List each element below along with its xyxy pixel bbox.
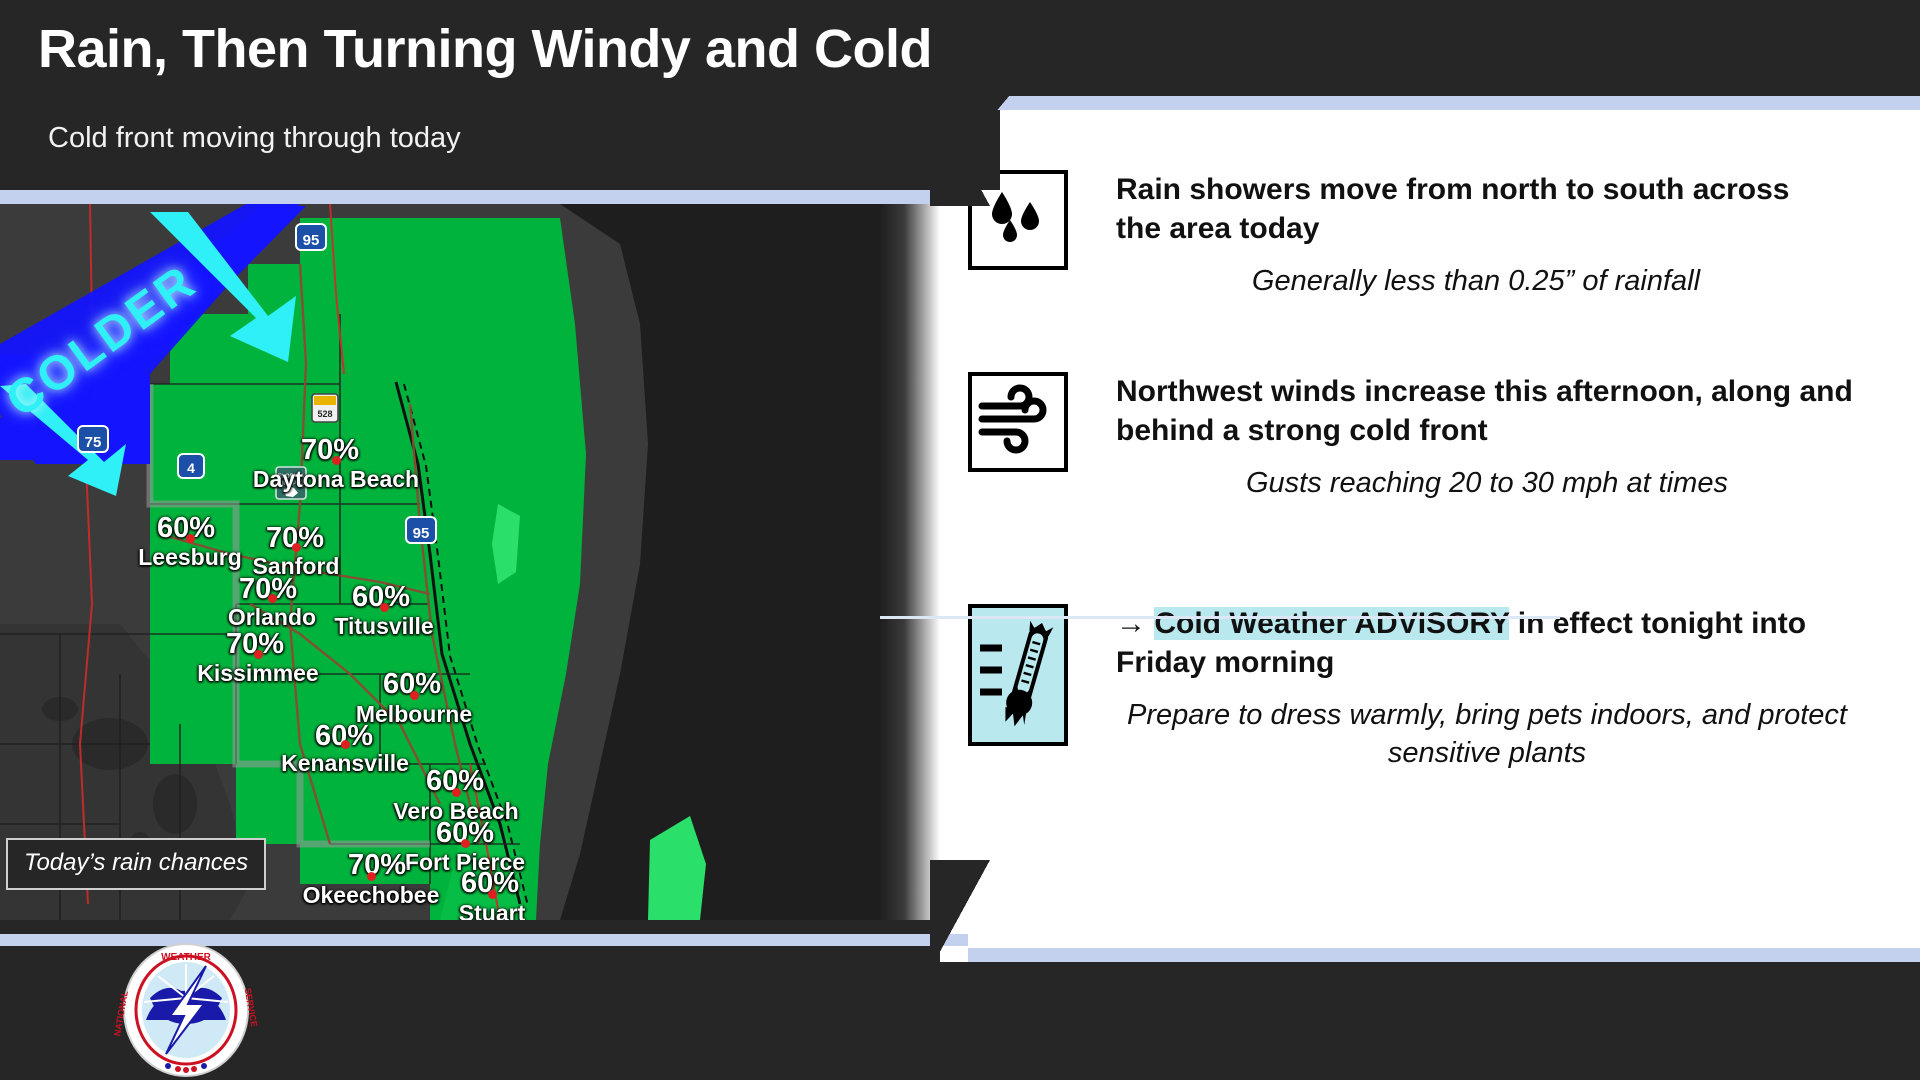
info-item-wind-sub: Gusts reaching 20 to 30 mph at times: [1116, 464, 1858, 502]
map-city-label: Leesburg: [138, 544, 242, 571]
map-city-dot: [488, 890, 497, 899]
info-item-cold-sub: Prepare to dress warmly, bring pets indo…: [1116, 696, 1858, 773]
map-city-dot: [341, 740, 350, 749]
weather-graphic: COLDER 95 75 4 95 528: [0, 0, 1920, 1080]
info-item-rain-sub: Generally less than 0.25” of rainfall: [1116, 262, 1836, 300]
rain-chance-map[interactable]: COLDER 95 75 4 95 528: [0, 204, 916, 920]
thermometer-icon: [968, 604, 1068, 746]
page-subtitle: Cold front moving through today: [48, 122, 461, 155]
info-item-wind-main: Northwest winds increase this afternoon,…: [1116, 372, 1858, 450]
advisory-highlight: Cold Weather ADVISORY: [1154, 607, 1509, 640]
info-item-rain: Rain showers move from north to south ac…: [968, 170, 1858, 300]
map-city-label: Melbourne: [356, 701, 472, 728]
map-city-label: Titusville: [334, 613, 433, 640]
wind-icon: [968, 372, 1068, 472]
info-item-cold-advisory: → Cold Weather ADVISORY in effect tonigh…: [968, 604, 1858, 773]
svg-text:528: 528: [317, 409, 332, 419]
panel-top-accent: [968, 96, 1920, 110]
info-item-wind: Northwest winds increase this afternoon,…: [968, 372, 1858, 502]
map-city-dot: [410, 691, 419, 700]
map-city-label: Kenansville: [281, 750, 409, 777]
info-panel: Rain showers move from north to south ac…: [940, 96, 1920, 962]
header-diagonal-cut: [930, 0, 1090, 190]
map-city-dot: [292, 543, 301, 552]
map-rain-pct: 70%: [301, 434, 359, 467]
map-city-dot: [254, 650, 263, 659]
map-city-dot: [186, 534, 195, 543]
map-city-dot: [367, 872, 376, 881]
svg-text:4: 4: [187, 460, 195, 476]
page-title: Rain, Then Turning Windy and Colder: [38, 18, 982, 80]
panel-notch-bottom: [930, 860, 990, 970]
svg-text:75: 75: [85, 434, 102, 451]
map-legend: Today’s rain chances: [6, 838, 266, 890]
map-city-dot: [268, 594, 277, 603]
header-bar: Rain, Then Turning Windy and Colder Cold…: [0, 0, 1000, 190]
map-city-label: Okeechobee: [303, 882, 440, 909]
nws-logo: WEATHER NATIONAL SERVICE: [106, 942, 266, 1078]
panel-bottom-accent: [968, 948, 1920, 962]
info-item-rain-main: Rain showers move from north to south ac…: [1116, 170, 1836, 248]
map-city-label: Daytona Beach: [253, 466, 419, 493]
map-city-dot: [380, 603, 389, 612]
map-city-label: Stuart: [459, 900, 525, 920]
map-city-dot: [332, 456, 341, 465]
map-city-dot: [461, 839, 470, 848]
arrow-right-icon: →: [1116, 607, 1146, 640]
map-city-label: Orlando: [228, 604, 316, 631]
map-legend-label: Today’s rain chances: [24, 849, 248, 877]
svg-text:WEATHER: WEATHER: [161, 952, 212, 963]
map-city-label: Kissimmee: [197, 660, 318, 687]
svg-text:95: 95: [303, 232, 320, 249]
svg-text:95: 95: [413, 525, 430, 542]
header-accent-rule: [0, 190, 968, 204]
map-rain-pct: 70%: [348, 849, 406, 882]
panel-divider: [880, 616, 1560, 619]
map-right-fade: [880, 204, 940, 920]
map-city-dot: [452, 788, 461, 797]
